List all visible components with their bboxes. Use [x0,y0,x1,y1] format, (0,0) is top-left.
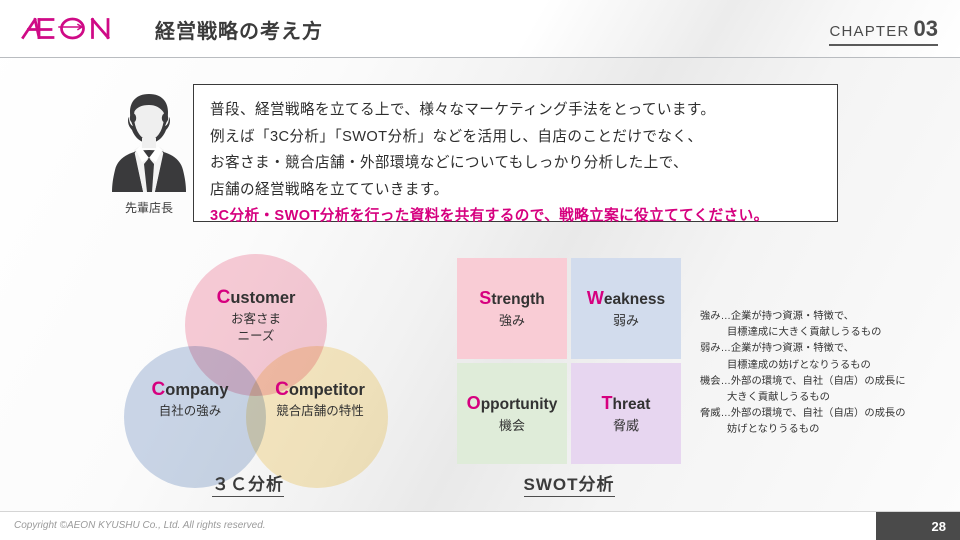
chapter-indicator: CHAPTER03 [829,16,938,46]
message-line: 例えば「3C分析」「SWOT分析」などを活用し、自店のことだけでなく、 [210,124,823,151]
definition-line: 目標達成に大きく貢献しうるもの [700,325,950,341]
swot-cell-weakness: Weakness 弱み [571,258,681,359]
swot-label-en: Opportunity [467,392,558,415]
swot-initial: S [479,288,491,308]
swot-initial: W [587,288,604,308]
aeon-logo-icon [20,14,124,44]
chapter-number: 03 [914,16,938,41]
venn-label-jp2: ニーズ [176,328,336,344]
swot-definitions: 強み…企業が持つ資源・特徴で、 目標達成に大きく貢献しうるもの 弱み…企業が持つ… [700,309,950,439]
definition-line: 機会…外部の環境で、自社（自店）の成長に [700,374,950,390]
speaker-caption: 先輩店長 [106,199,192,216]
message-box: 普段、経営戦略を立てる上で、様々なマーケティング手法をとっています。 例えば「3… [193,84,838,222]
swot-label-jp: 強み [499,313,525,330]
page-title: 経営戦略の考え方 [155,15,323,44]
swot-cell-strength: Strength 強み [457,258,567,359]
definition-line: 妨げとなりうるもの [700,422,950,438]
swot-initial: O [467,393,481,413]
message-line: お客さま・競合店舗・外部環境などについてもしっかり分析した上で、 [210,150,823,177]
swot-label-jp: 弱み [613,313,639,330]
venn-rest: ompany [165,381,228,399]
definition-line: 大きく貢献しうるもの [700,390,950,406]
swot-label-jp: 機会 [499,418,525,435]
message-line: 普段、経営戦略を立てる上で、様々なマーケティング手法をとっています。 [210,97,823,124]
message-line: 店舗の経営戦略を立てていきます。 [210,177,823,204]
venn-initial: C [275,379,289,400]
venn-label-jp: お客さま [176,311,336,327]
swot-rest: eakness [604,291,665,308]
swot-diagram: Strength 強み Weakness 弱み Opportunity 機会 T… [457,258,681,505]
copyright-text: Copyright ©AEON KYUSHU Co., Ltd. All rig… [14,520,266,531]
venn-rest: ompetitor [289,381,365,399]
swot-rest: hreat [613,396,651,413]
speaker-block: 先輩店長 [106,88,192,216]
three-c-title: ３Ｃ分析 [212,470,284,497]
venn-label-en: Customer [176,286,336,310]
venn-label-en: Competitor [230,378,410,402]
venn-label-customer: Customer お客さま ニーズ [176,286,336,344]
swot-cell-threat: Threat 脅威 [571,363,681,464]
venn-rest: ustomer [230,289,295,307]
page-number-badge: 28 [876,512,960,540]
definition-line: 目標達成の妨げとなりうるもの [700,358,950,374]
definition-line: 脅威…外部の環境で、自社（自店）の成長の [700,406,950,422]
slide-header: 経営戦略の考え方 CHAPTER03 [0,0,960,58]
slide-root: 経営戦略の考え方 CHAPTER03 [0,0,960,540]
swot-cell-opportunity: Opportunity 機会 [457,363,567,464]
definition-line: 弱み…企業が持つ資源・特徴で、 [700,341,950,357]
swot-rest: pportunity [481,396,558,413]
venn-initial: C [152,379,166,400]
three-c-title-wrap: ３Ｃ分析 [118,470,378,497]
venn-label-competitor: Competitor 競合店舗の特性 [230,378,410,419]
slide-footer: Copyright ©AEON KYUSHU Co., Ltd. All rig… [0,511,960,540]
three-c-diagram: Customer お客さま ニーズ Company 自社の強み Competit… [118,250,378,505]
swot-label-jp: 脅威 [613,418,639,435]
chapter-label: CHAPTER [829,23,909,40]
swot-label-en: Threat [602,392,651,415]
swot-label-en: Weakness [587,287,665,310]
swot-rest: trength [491,291,544,308]
swot-title: SWOT分析 [524,470,615,497]
businessman-silhouette-icon [106,88,192,192]
venn-initial: C [217,287,231,308]
swot-label-en: Strength [479,287,544,310]
definition-line: 強み…企業が持つ資源・特徴で、 [700,309,950,325]
swot-initial: T [602,393,613,413]
swot-title-wrap: SWOT分析 [457,470,681,497]
swot-grid: Strength 強み Weakness 弱み Opportunity 機会 T… [457,258,681,470]
venn-label-jp: 競合店舗の特性 [230,403,410,419]
message-line-highlight: 3C分析・SWOT分析を行った資料を共有するので、戦略立案に役立ててください。 [210,203,823,230]
